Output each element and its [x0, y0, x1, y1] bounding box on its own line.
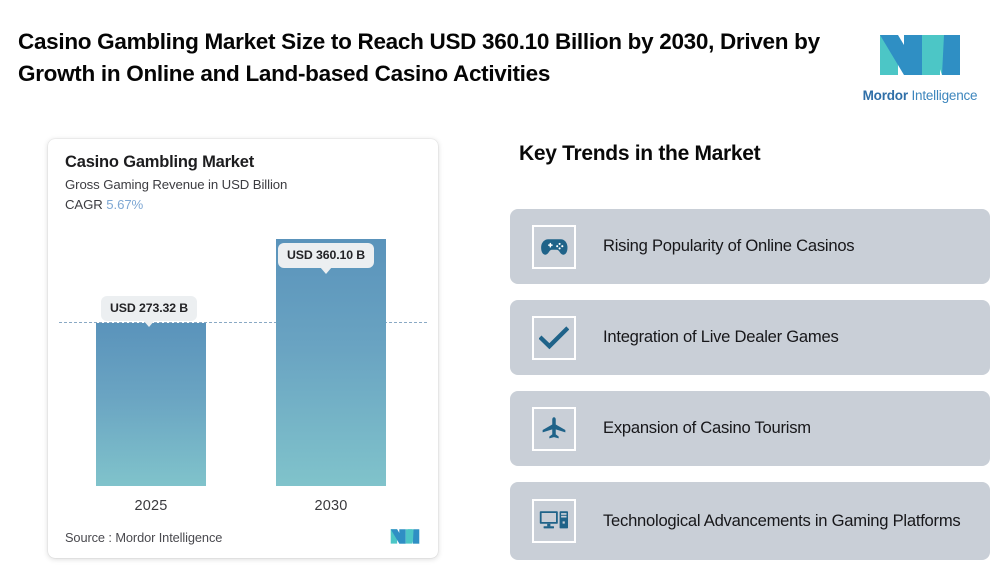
checkmark-icon [532, 316, 576, 360]
source-logo-icon [389, 525, 421, 545]
value-tooltip-2030: USD 360.10 B [278, 243, 374, 268]
infographic-page: Casino Gambling Market Size to Reach USD… [0, 0, 1000, 565]
trend-card-tech-advancements[interactable]: Technological Advancements in Gaming Pla… [510, 482, 990, 560]
trend-card-online-casinos[interactable]: Rising Popularity of Online Casinos [510, 209, 990, 284]
trends-heading: Key Trends in the Market [519, 142, 760, 166]
bar-2025 [96, 323, 206, 486]
trend-label: Expansion of Casino Tourism [603, 417, 827, 440]
chart-source: Source : Mordor Intelligence [65, 530, 222, 545]
source-label: Source : [65, 530, 112, 545]
bar-chart-plot: USD 273.32 B USD 360.10 B 2025 2030 [48, 139, 438, 558]
trend-label: Technological Advancements in Gaming Pla… [603, 510, 976, 533]
trend-list: Rising Popularity of Online Casinos Inte… [510, 209, 990, 565]
x-axis-label-2030: 2030 [276, 498, 386, 514]
trend-card-casino-tourism[interactable]: Expansion of Casino Tourism [510, 391, 990, 466]
brand-word-mordor: Mordor [863, 88, 908, 103]
bar-2030 [276, 239, 386, 486]
brand-word-intelligence: Intelligence [911, 88, 977, 103]
game-controller-icon [532, 225, 576, 269]
desktop-computer-icon [532, 499, 576, 543]
trend-card-live-dealer[interactable]: Integration of Live Dealer Games [510, 300, 990, 375]
trend-label: Rising Popularity of Online Casinos [603, 235, 870, 258]
brand-wordmark: Mordor Intelligence [863, 88, 978, 103]
source-value: Mordor Intelligence [115, 530, 222, 545]
header: Casino Gambling Market Size to Reach USD… [0, 0, 1000, 125]
chart-card: Casino Gambling Market Gross Gaming Reve… [48, 139, 438, 558]
mordor-intelligence-mark [878, 23, 962, 79]
brand-logo: Mordor Intelligence [857, 3, 983, 122]
trend-label: Integration of Live Dealer Games [603, 326, 855, 349]
page-title: Casino Gambling Market Size to Reach USD… [18, 26, 848, 90]
x-axis-label-2025: 2025 [96, 498, 206, 514]
airplane-icon [532, 407, 576, 451]
value-tooltip-2025: USD 273.32 B [101, 296, 197, 321]
